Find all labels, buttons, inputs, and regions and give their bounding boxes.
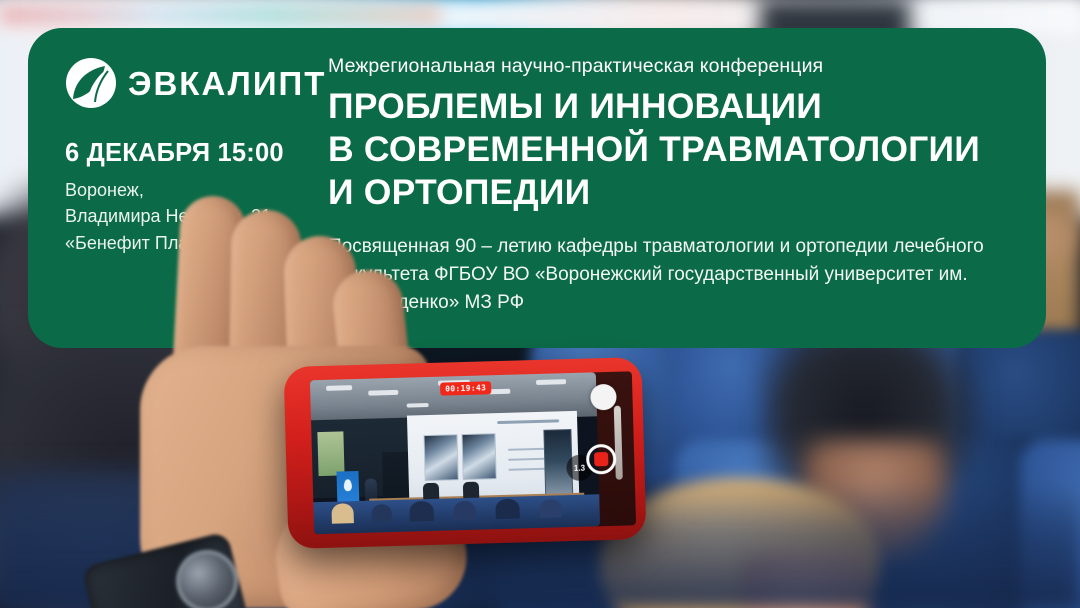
screen-audience xyxy=(313,494,600,534)
conference-banner: ЭВКАЛИПТ 6 ДЕКАБРЯ 15:00 Воронеж, Владим… xyxy=(0,0,1080,608)
title-line-1: ПРОБЛЕМЫ И ИННОВАЦИИ xyxy=(328,85,1012,128)
brand-logo: ЭВКАЛИПТ xyxy=(65,57,328,109)
conference-title: ПРОБЛЕМЫ И ИННОВАЦИИ В СОВРЕМЕННОЙ ТРАВМ… xyxy=(328,85,1012,214)
screen-xray-image-2 xyxy=(461,433,496,480)
event-datetime: 6 ДЕКАБРЯ 15:00 xyxy=(65,139,328,168)
recording-timer: 00:19:43 xyxy=(440,381,491,395)
screen-xray-image-1 xyxy=(423,434,458,481)
eucalyptus-leaf-icon xyxy=(65,57,117,109)
smartphone[interactable]: 00:19:43 1.3 xyxy=(284,357,647,549)
bg-wall-posters xyxy=(0,4,440,26)
brand-name: ЭВКАЛИПТ xyxy=(128,67,326,100)
title-line-2: В СОВРЕМЕННОЙ ТРАВМАТОЛОГИИ xyxy=(328,128,1012,171)
conference-kicker: Межрегиональная научно-практическая конф… xyxy=(328,55,1012,78)
screen-banner-droplet-icon xyxy=(344,479,352,491)
screen-window xyxy=(317,431,344,476)
phone-screen[interactable]: 00:19:43 1.3 xyxy=(310,372,600,534)
